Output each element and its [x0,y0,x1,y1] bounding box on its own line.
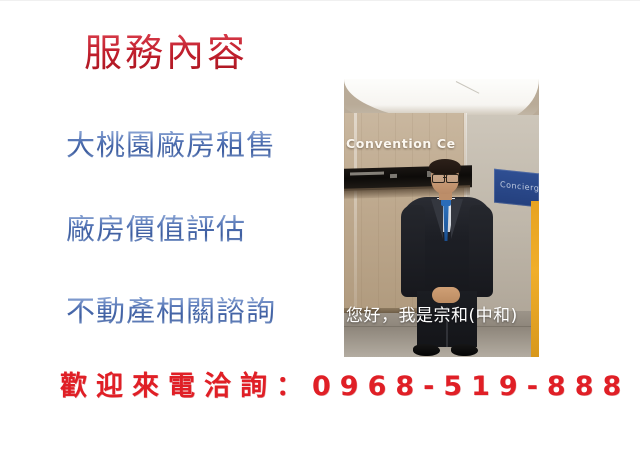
person-necktie-knot [441,199,451,206]
counter-highlight-2 [390,174,397,178]
person-glasses-right-lens-icon [446,174,459,183]
photo-person [401,161,493,357]
photo-caption: 您好，我是宗和(中和) [346,308,542,325]
person-arm-right [469,205,493,297]
service-item-2: 廠房價值評估 [66,215,246,244]
person-hair [429,159,461,175]
person-shoe-right [451,344,478,356]
convention-center-sign-text: Convention Ce [346,136,464,151]
person-lapel-right [451,199,463,239]
person-glasses-bridge-icon [443,177,447,178]
person-hands [432,287,460,303]
person-shoe-left [413,344,440,356]
person-arm-left [401,205,425,297]
page-title: 服務內容 [84,34,248,72]
service-item-1: 大桃園廠房租售 [66,131,276,160]
service-item-3: 不動產相關諮詢 [66,297,276,326]
slide-canvas: 服務內容 大桃園廠房租售 廠房價值評估 不動產相關諮詢 歡迎來電洽詢：0968-… [0,0,640,451]
photo-accent-strip [531,201,539,357]
person-glasses-left-lens-icon [432,174,445,183]
contact-phone-line: 歡迎來電洽詢：0968-519-888 [60,373,630,400]
